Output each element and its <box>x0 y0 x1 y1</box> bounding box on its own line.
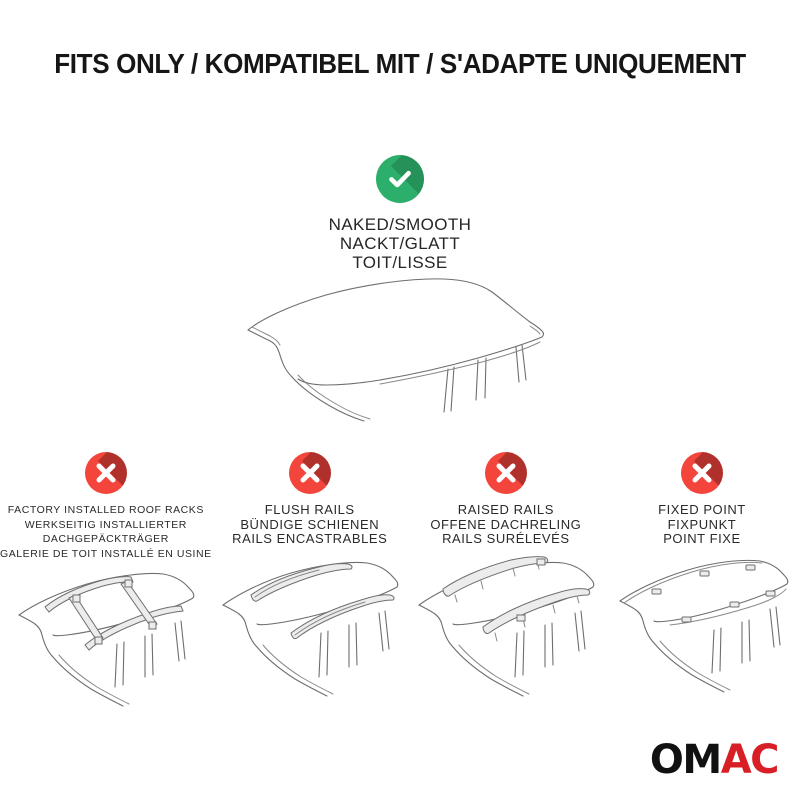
item-label-1: BÜNDIGE SCHIENEN <box>232 518 387 533</box>
item-labels: FACTORY INSTALLED ROOF RACKS WERKSEITIG … <box>0 503 212 561</box>
item-label-1: OFFENE DACHRELING <box>430 518 581 533</box>
fitment-infographic: FITS ONLY / KOMPATIBEL MIT / S'ADAPTE UN… <box>0 0 800 800</box>
raised-rail-drawing <box>411 553 601 703</box>
x-circle-icon <box>485 452 527 494</box>
item-label-0: FLUSH RAILS <box>232 503 387 518</box>
item-label-3: GALERIE DE TOIT INSTALLÉ EN USINE <box>0 547 212 562</box>
check-circle-icon <box>376 155 424 203</box>
item-labels: RAISED RAILS OFFENE DACHRELING RAILS SUR… <box>430 503 581 547</box>
compatible-labels: NAKED/SMOOTH NACKT/GLATT TOIT/LISSE <box>329 215 472 272</box>
raised-rail-roof-illustration <box>411 553 601 708</box>
smooth-roof-drawing <box>230 272 580 422</box>
item-label-1: WERKSEITIG INSTALLIERTER <box>0 518 212 533</box>
incompatible-item-raised-rails: RAISED RAILS OFFENE DACHRELING RAILS SUR… <box>408 452 604 722</box>
factory-rack-roof-illustration <box>11 567 201 722</box>
compatible-label-en: NAKED/SMOOTH <box>329 215 472 234</box>
incompatible-item-factory-installed-roof-racks: FACTORY INSTALLED ROOF RACKS WERKSEITIG … <box>0 452 212 722</box>
x-glyph <box>93 460 119 486</box>
fixed-point-roof-illustration <box>614 553 789 708</box>
incompatible-section: FACTORY INSTALLED ROOF RACKS WERKSEITIG … <box>0 452 800 722</box>
compatible-label-fr: TOIT/LISSE <box>329 253 472 272</box>
item-label-2: RAILS SURÉLEVÉS <box>430 532 581 547</box>
x-circle-icon <box>681 452 723 494</box>
flush-rail-roof-illustration <box>215 553 405 708</box>
item-label-0: RAISED RAILS <box>430 503 581 518</box>
item-label-0: FACTORY INSTALLED ROOF RACKS <box>0 503 212 518</box>
item-label-1: FIXPUNKT <box>658 518 746 533</box>
item-labels: FIXED POINT FIXPUNKT POINT FIXE <box>658 503 746 547</box>
item-label-2: POINT FIXE <box>658 532 746 547</box>
fixed-point-drawing <box>614 553 789 703</box>
compatible-section: NAKED/SMOOTH NACKT/GLATT TOIT/LISSE <box>0 155 800 272</box>
page-title: FITS ONLY / KOMPATIBEL MIT / S'ADAPTE UN… <box>28 48 772 80</box>
x-glyph <box>689 460 715 486</box>
x-glyph <box>297 460 323 486</box>
logo-text-red: AC <box>721 737 778 783</box>
flush-rail-drawing <box>215 553 405 703</box>
factory-rack-drawing <box>11 567 201 717</box>
x-glyph <box>493 460 519 486</box>
item-labels: FLUSH RAILS BÜNDIGE SCHIENEN RAILS ENCAS… <box>232 503 387 547</box>
compatible-label-de: NACKT/GLATT <box>329 234 472 253</box>
item-label-0: FIXED POINT <box>658 503 746 518</box>
x-circle-icon <box>289 452 331 494</box>
x-circle-icon <box>85 452 127 494</box>
omac-logo: OMAC <box>650 740 778 780</box>
incompatible-item-fixed-point: FIXED POINT FIXPUNKT POINT FIXE <box>604 452 800 722</box>
smooth-roof-illustration <box>230 272 580 422</box>
logo-text-dark: OM <box>650 737 721 783</box>
check-glyph <box>385 164 415 194</box>
incompatible-item-flush-rails: FLUSH RAILS BÜNDIGE SCHIENEN RAILS ENCAS… <box>212 452 408 722</box>
item-label-2: DACHGEPÄCKTRÄGER <box>0 532 212 547</box>
item-label-2: RAILS ENCASTRABLES <box>232 532 387 547</box>
